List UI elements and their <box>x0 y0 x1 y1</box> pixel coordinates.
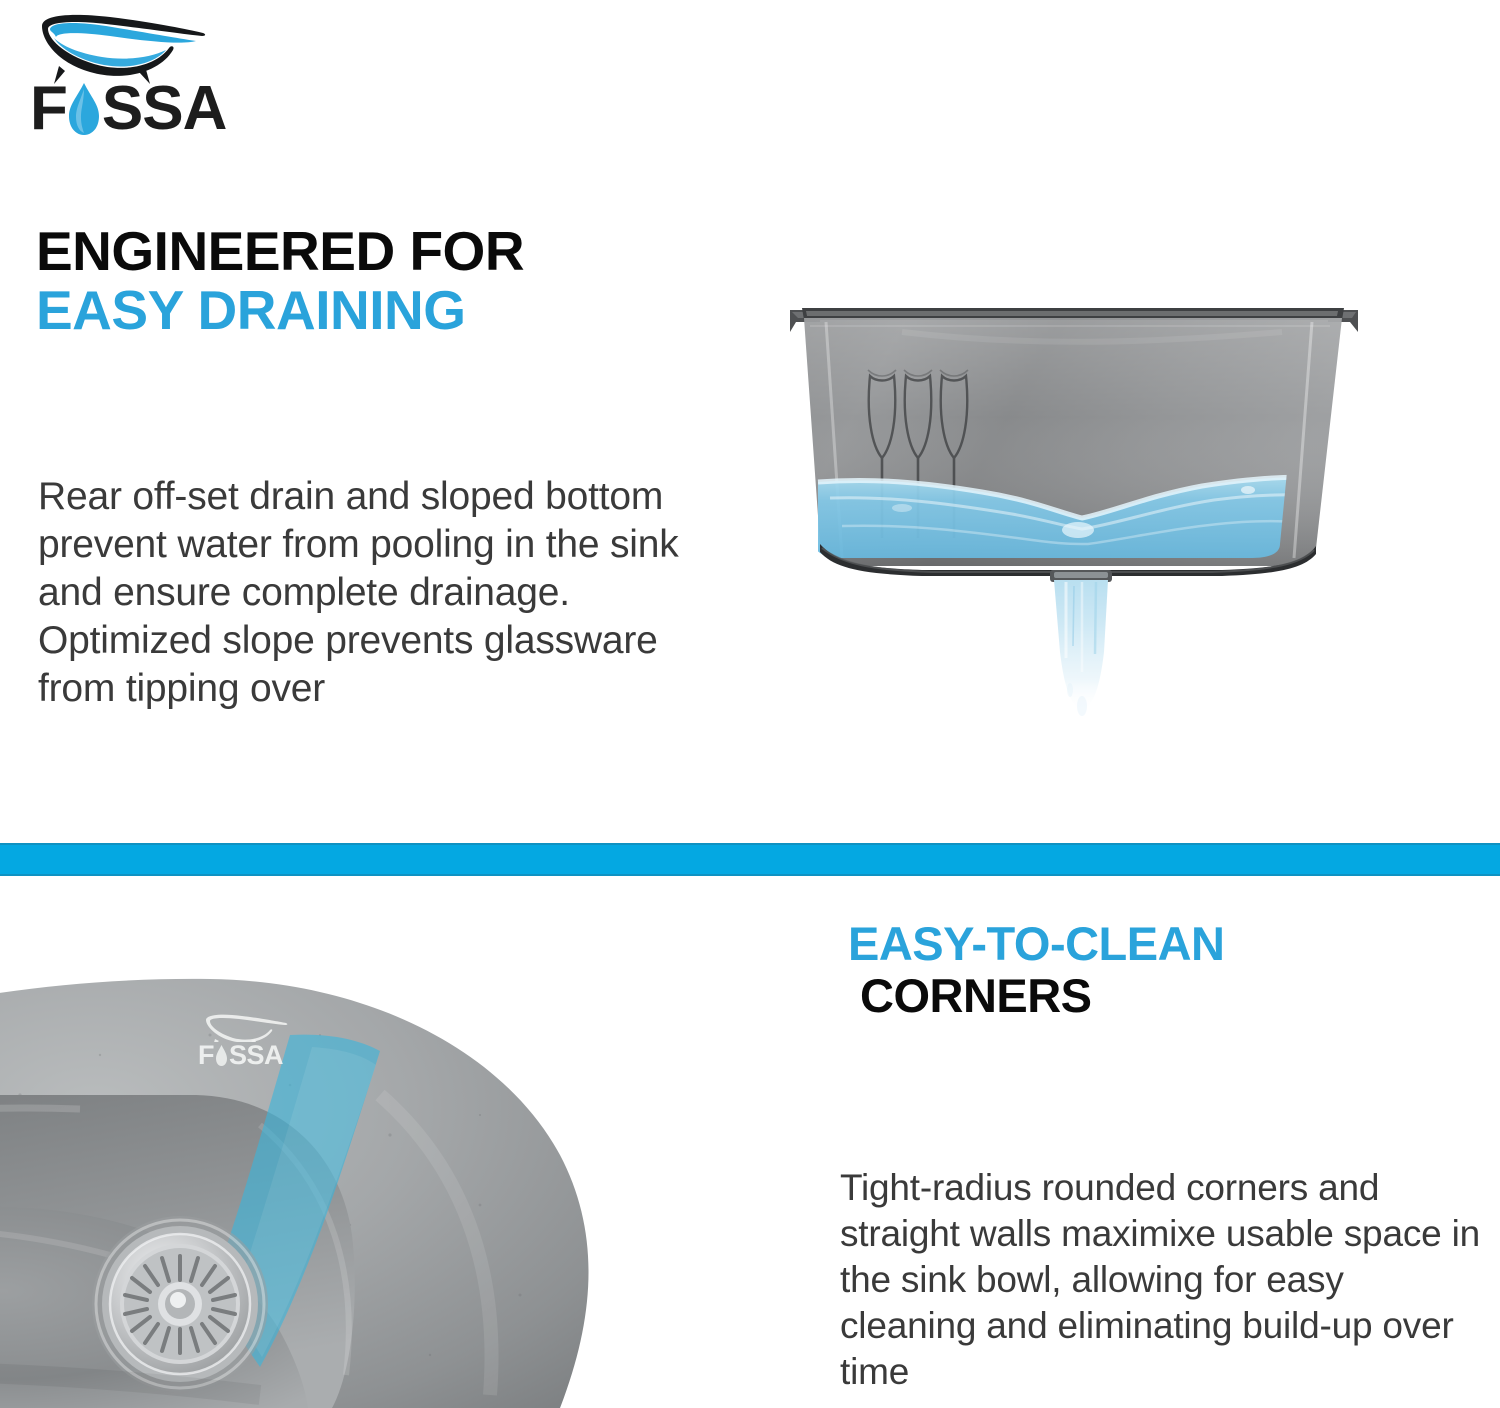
headline-line-2: EASY DRAINING <box>36 281 696 340</box>
section-body-easy-draining: Rear off-set drain and sloped bottom pre… <box>38 473 718 713</box>
section-heading-easy-draining: ENGINEERED FOR EASY DRAINING <box>36 222 696 340</box>
section-body-easy-to-clean-corners: Tight-radius rounded corners and straigh… <box>840 1165 1480 1394</box>
wordmark-letter-f: F <box>30 78 67 140</box>
sink-bowl-top-view-photo <box>0 975 640 1408</box>
brand-logo: F SSA <box>28 10 268 150</box>
drain-strainer <box>92 1216 268 1392</box>
infographic-page: F SSA ENGINEERED FOR EASY DRAINING Rear … <box>0 0 1500 1408</box>
brand-wordmark: F SSA <box>30 76 226 142</box>
wordmark-letters-ssa: SSA <box>102 78 226 140</box>
headline-bottom-line-2: CORNERS <box>848 970 1468 1022</box>
headline-bottom-line-1: EASY-TO-CLEAN <box>848 918 1468 970</box>
water-drop-icon <box>67 81 101 137</box>
section-divider <box>0 843 1500 876</box>
headline-line-1: ENGINEERED FOR <box>36 222 696 281</box>
draining-water-stream <box>1054 580 1108 716</box>
section-heading-easy-to-clean-corners: EASY-TO-CLEAN CORNERS <box>848 918 1468 1021</box>
sink-cutaway-illustration <box>782 286 1366 716</box>
